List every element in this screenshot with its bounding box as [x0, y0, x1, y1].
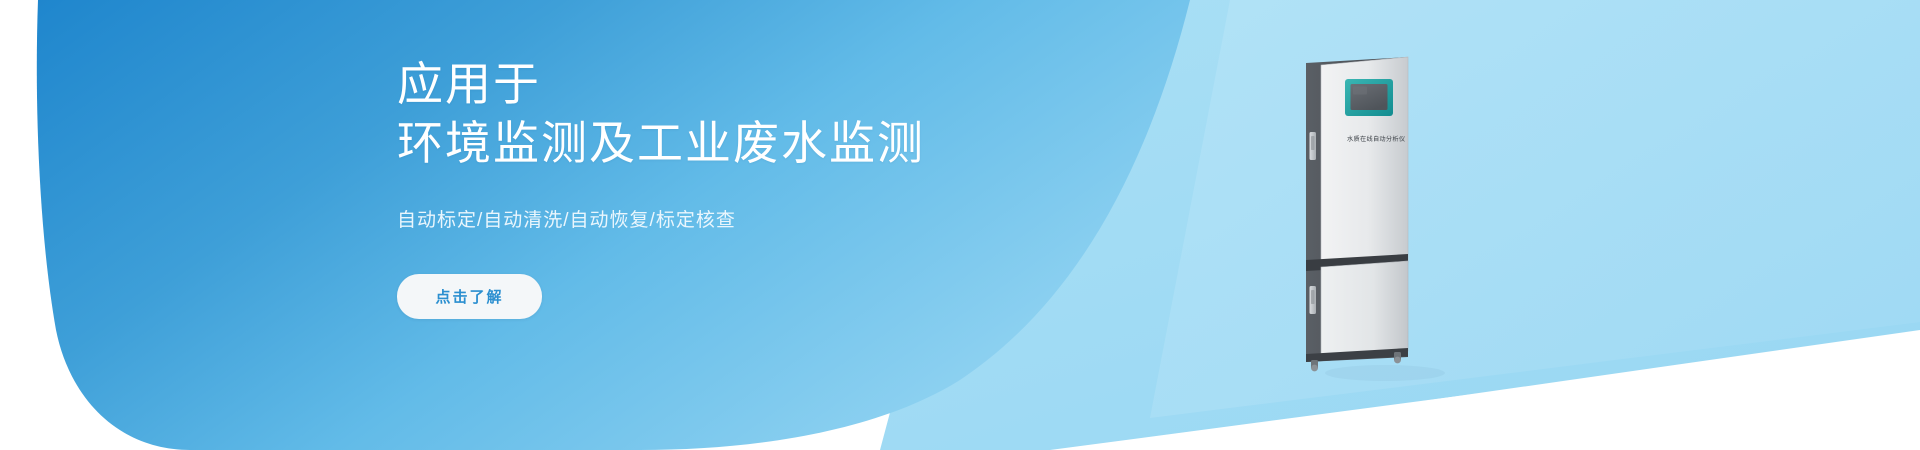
banner-content: 应用于 环境监测及工业废水监测 自动标定/自动清洗/自动恢复/标定核查 点击了解: [397, 55, 1217, 319]
device-caster-wheel-right: [1394, 352, 1401, 363]
device-lower-cabinet: [1321, 261, 1408, 357]
banner-subheadline: 自动标定/自动清洗/自动恢复/标定核查: [397, 205, 1217, 232]
banner-headline: 应用于 环境监测及工业废水监测: [397, 55, 1217, 173]
hero-banner: 应用于 环境监测及工业废水监测 自动标定/自动清洗/自动恢复/标定核查 点击了解: [0, 0, 1920, 450]
device-side-handle-lower-slot: [1311, 290, 1315, 304]
learn-more-button[interactable]: 点击了解: [397, 274, 542, 319]
device-side-handle-upper-slot: [1311, 136, 1315, 150]
device-screen-reflection: [1353, 87, 1367, 95]
product-device-image: 水质在线自动分析仪: [1290, 55, 1480, 385]
device-nameplate-text: 水质在线自动分析仪: [1347, 135, 1405, 143]
water-quality-analyzer-illustration: 水质在线自动分析仪: [1290, 55, 1480, 385]
device-ground-shadow: [1325, 365, 1445, 381]
device-caster-wheel-left: [1311, 360, 1318, 371]
